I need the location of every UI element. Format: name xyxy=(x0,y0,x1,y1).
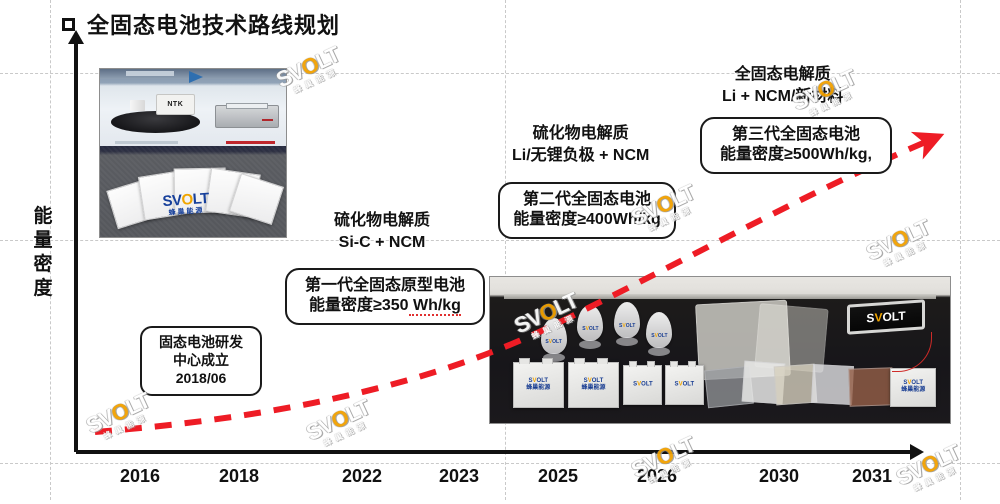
cell-tab xyxy=(597,358,608,364)
cell-tab xyxy=(542,358,553,364)
callout-line: 第三代全固态电池 xyxy=(732,125,860,145)
x-axis-tick-2025: 2025 xyxy=(538,466,578,487)
electrode-film-sample xyxy=(848,367,893,406)
label-sulfide-electrolyte-li: 硫化物电解质Li/无锂负极 + NCM xyxy=(512,123,649,166)
watermark-subtext: 蜂 巢 能 源 xyxy=(860,231,950,279)
callout-gen3[interactable]: 第三代全固态电池能量密度≥500Wh/kg, xyxy=(700,117,892,174)
svolt-watermark: SVOLT蜂 巢 能 源 xyxy=(880,435,980,504)
watermark-subtext: 蜂 巢 能 源 xyxy=(890,456,980,504)
page-title: 全固态电池技术路线规划 xyxy=(62,8,340,40)
x-axis-tick-2026: 2026 xyxy=(637,466,677,487)
y-axis-label-char: 密 xyxy=(30,253,56,277)
pouch-logo: SVOLT蜂巢能源 xyxy=(581,378,605,392)
sample-cylinder xyxy=(130,100,145,112)
photo-left-lower-scene: SVOLT 蜂巢能源 xyxy=(100,146,286,237)
shelf-rail xyxy=(504,294,936,299)
pouch-cell-with-leads: SVOLT蜂巢能源 xyxy=(890,368,936,407)
photo-left-backdrop-band xyxy=(100,69,286,79)
x-axis-tick-2031: 2031 xyxy=(852,466,892,487)
svolt-chinese-name: 蜂巢能源 xyxy=(163,207,210,217)
cell-tab xyxy=(629,361,637,367)
plain-label-line: 全固态电解质 xyxy=(722,64,843,86)
watermark-wordmark: SVOLT xyxy=(880,435,976,496)
press-indicator xyxy=(262,119,273,121)
bottle-logo: SVOLT xyxy=(619,323,635,329)
y-axis-line xyxy=(74,42,78,452)
watermark-wordmark: SVOLT xyxy=(850,210,946,271)
callout-line: 中心成立 xyxy=(173,352,229,370)
callout-line: 能量密度≥500Wh/kg, xyxy=(720,145,872,165)
pouch-logo: SVOLT蜂巢能源 xyxy=(901,380,925,394)
label-solid-electrolyte: 全固态电解质Li + NCM/新材料 xyxy=(722,64,843,107)
photo-lab-equipment-and-cells: NTK SVOLT 蜂巢能源 xyxy=(99,68,287,238)
x-axis-tick-2022: 2022 xyxy=(342,466,382,487)
slide-canvas: 全固态电池技术路线规划 能量密度 20162018202220232025202… xyxy=(0,0,1000,500)
y-axis-label-char: 能 xyxy=(30,205,56,229)
backdrop-triangle-icon xyxy=(189,71,203,83)
y-axis-label-char: 量 xyxy=(30,229,56,253)
callout-line: 能量密度≥350 Wh/kg xyxy=(309,296,461,316)
cell-tab xyxy=(574,358,585,364)
backdrop-label xyxy=(126,71,174,76)
pouch-logo: SVOLT xyxy=(633,382,653,389)
guide-line-vertical xyxy=(505,0,506,500)
svolt-logo-on-cell: SVOLT 蜂巢能源 xyxy=(162,191,210,217)
pouch-cell-label: NTK xyxy=(157,95,194,114)
pouch-logo: SVOLT蜂巢能源 xyxy=(526,378,550,392)
bottle-logo: SVOLT xyxy=(545,339,561,345)
watermark-subtext: 蜂 巢 能 源 xyxy=(80,404,170,452)
guide-line-vertical xyxy=(960,0,961,500)
watermark-wordmark: SVOLT xyxy=(290,390,386,451)
pouch-cell-sample: NTK xyxy=(156,94,195,115)
press-plate xyxy=(226,103,268,109)
callout-gen1[interactable]: 第一代全固态原型电池能量密度≥350 Wh/kg xyxy=(285,268,485,325)
svolt-watermark: SVOLT蜂 巢 能 源 xyxy=(850,210,950,279)
arrow-right-icon xyxy=(910,444,924,460)
x-axis-tick-2016: 2016 xyxy=(120,466,160,487)
bottle-logo: SVOLT xyxy=(582,326,598,332)
press-machine xyxy=(215,105,278,127)
label-sulfide-electrolyte-sic: 硫化物电解质Si-C + NCM xyxy=(334,210,430,253)
guide-line-horizontal xyxy=(0,463,1000,464)
callout-line: 能量密度≥400Wh/kg xyxy=(513,210,660,230)
plain-label-line: Si-C + NCM xyxy=(334,232,430,254)
x-axis-line xyxy=(76,450,914,454)
guide-line-horizontal xyxy=(0,240,1000,241)
callout-gen0[interactable]: 固态电池研发中心成立2018/06 xyxy=(140,326,262,396)
cell-tab xyxy=(670,361,678,367)
x-axis-tick-2018: 2018 xyxy=(219,466,259,487)
plain-label-line: 硫化物电解质 xyxy=(334,210,430,232)
photo-left-upper-scene: NTK xyxy=(100,69,286,146)
pouch-logo: SVOLT xyxy=(675,382,695,389)
page-title-text: 全固态电池技术路线规划 xyxy=(87,8,340,40)
plain-label-line: Li + NCM/新材料 xyxy=(722,86,843,108)
cell-tab xyxy=(688,361,696,367)
x-axis-tick-2023: 2023 xyxy=(439,466,479,487)
svolt-sign-text: SVOLT xyxy=(866,308,905,325)
svolt-display-sign: SVOLT xyxy=(847,299,925,334)
exhibit-caption-right xyxy=(226,141,274,144)
x-axis-tick-2030: 2030 xyxy=(759,466,799,487)
pouch-cell: SVOLT xyxy=(665,365,704,406)
plain-label-line: Li/无锂负极 + NCM xyxy=(512,145,649,167)
plain-label-line: 硫化物电解质 xyxy=(512,123,649,145)
callout-gen2[interactable]: 第二代全固态电池能量密度≥400Wh/kg xyxy=(498,182,676,239)
exhibit-caption-left xyxy=(115,141,178,144)
callout-line: 第二代全固态电池 xyxy=(523,190,651,210)
square-bullet-icon xyxy=(62,18,75,31)
pouch-cell: SVOLT xyxy=(623,365,662,406)
bottle-logo: SVOLT xyxy=(651,333,667,339)
pouch-cell: SVOLT蜂巢能源 xyxy=(513,362,564,409)
svolt-watermark: SVOLT蜂 巢 能 源 xyxy=(290,390,390,459)
pouch-cell: SVOLT蜂巢能源 xyxy=(568,362,619,409)
y-axis-label: 能量密度 xyxy=(30,205,56,301)
cell-tab xyxy=(519,358,530,364)
reagent-bottle: SVOLT xyxy=(541,318,567,354)
y-axis-label-char: 度 xyxy=(30,277,56,301)
callout-line: 2018/06 xyxy=(176,370,227,388)
photo-material-samples: SVOLT SVOLT SVOLT SVOLT SVOLT蜂巢能源 SVOLT蜂… xyxy=(489,276,951,424)
cell-tab xyxy=(647,361,655,367)
callout-line: 固态电池研发 xyxy=(159,334,243,352)
spellcheck-underlined-text: Wh/kg xyxy=(409,297,461,316)
callout-line: 第一代全固态原型电池 xyxy=(305,276,465,296)
